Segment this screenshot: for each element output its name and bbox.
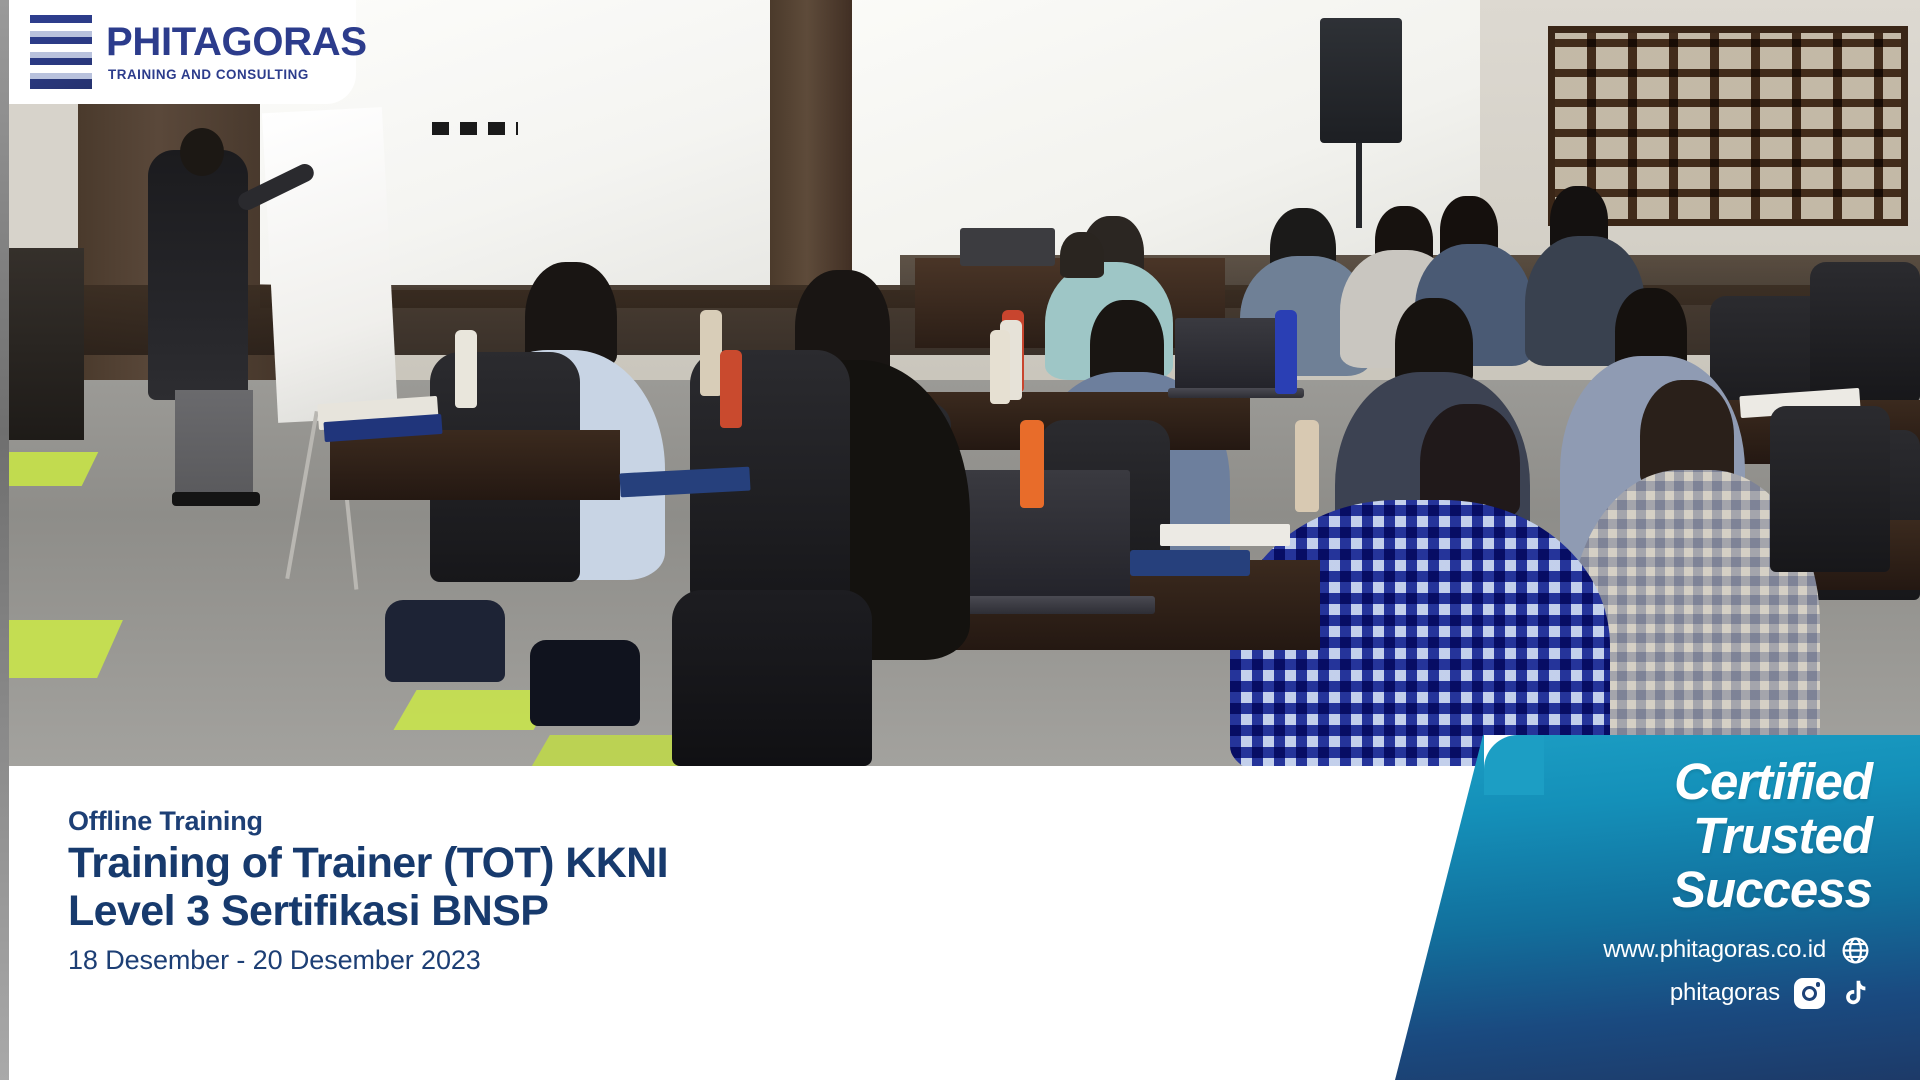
trainer-legs xyxy=(175,390,253,500)
water-bottle xyxy=(455,330,477,408)
speaker-stand xyxy=(1356,143,1362,228)
bag xyxy=(530,640,640,726)
paper-document xyxy=(1160,524,1290,546)
flipchart-markings xyxy=(432,122,518,135)
promo-poster: PHITAGORAS TRAINING AND CONSULTING Offli… xyxy=(0,0,1920,1080)
title-line-2: Level 3 Sertifikasi BNSP xyxy=(68,887,668,935)
website-url[interactable]: www.phitagoras.co.id xyxy=(1603,936,1826,964)
slogan-line-2: Trusted xyxy=(1672,809,1872,863)
paper-document xyxy=(1130,550,1250,576)
floor-marking xyxy=(0,452,98,486)
website-row[interactable]: www.phitagoras.co.id xyxy=(1603,933,1872,967)
contact-info: www.phitagoras.co.id phitagoras xyxy=(1603,933,1872,1010)
photo-scene xyxy=(0,0,1920,766)
slogan-line-3: Success xyxy=(1672,863,1872,917)
wall-speaker xyxy=(1320,18,1402,143)
water-bottle xyxy=(720,350,742,428)
training-dates: 18 Desember - 20 Desember 2023 xyxy=(68,945,668,976)
room-pillar xyxy=(770,0,852,300)
bag xyxy=(385,600,505,682)
chair xyxy=(1810,262,1920,402)
training-type-label: Offline Training xyxy=(68,806,668,837)
trainer-shoes xyxy=(172,492,260,506)
chair xyxy=(672,590,872,766)
water-bottle xyxy=(1020,420,1044,508)
desk-equipment xyxy=(960,228,1055,266)
slogan-line-1: Certified xyxy=(1672,755,1872,809)
certification-slogan: Certified Trusted Success xyxy=(1672,755,1872,917)
trainer-figure xyxy=(148,150,248,400)
instagram-icon[interactable] xyxy=(1792,976,1826,1010)
chevron-stripe xyxy=(30,44,92,59)
announcement-copy: Offline Training Training of Trainer (TO… xyxy=(68,806,668,976)
participant xyxy=(1060,232,1104,278)
chevron-stripe xyxy=(30,23,92,38)
wooden-lattice-art xyxy=(1548,26,1908,226)
water-bottle xyxy=(1275,310,1297,394)
page-title: Training of Trainer (TOT) KKNI Level 3 S… xyxy=(68,839,668,935)
brand-wordmark: PHITAGORAS TRAINING AND CONSULTING xyxy=(106,22,367,81)
lattice-pattern xyxy=(1555,33,1901,219)
water-bottle xyxy=(1295,420,1319,512)
side-credenza xyxy=(0,248,84,440)
certification-content: Certified Trusted Success www.phitagoras… xyxy=(1420,735,1920,1080)
brand-name: PHITAGORAS xyxy=(106,22,367,62)
left-edge-strip xyxy=(0,0,9,1080)
social-handle[interactable]: phitagoras xyxy=(1670,979,1780,1007)
tiktok-icon[interactable] xyxy=(1838,976,1872,1010)
title-line-1: Training of Trainer (TOT) KKNI xyxy=(68,839,668,887)
phitagoras-chevron-logo-icon xyxy=(30,15,92,89)
brand-logo-badge: PHITAGORAS TRAINING AND CONSULTING xyxy=(0,0,356,104)
chevron-stripe xyxy=(30,65,92,80)
chair xyxy=(1770,406,1890,572)
trainer-head xyxy=(180,128,224,176)
water-bottle xyxy=(700,310,722,396)
flipchart xyxy=(262,107,398,423)
classroom-training-photo xyxy=(0,0,1920,766)
training-table xyxy=(330,430,620,500)
water-bottle xyxy=(990,330,1010,404)
globe-icon xyxy=(1838,933,1872,967)
brand-tagline: TRAINING AND CONSULTING xyxy=(106,68,367,81)
social-row[interactable]: phitagoras xyxy=(1670,976,1872,1010)
